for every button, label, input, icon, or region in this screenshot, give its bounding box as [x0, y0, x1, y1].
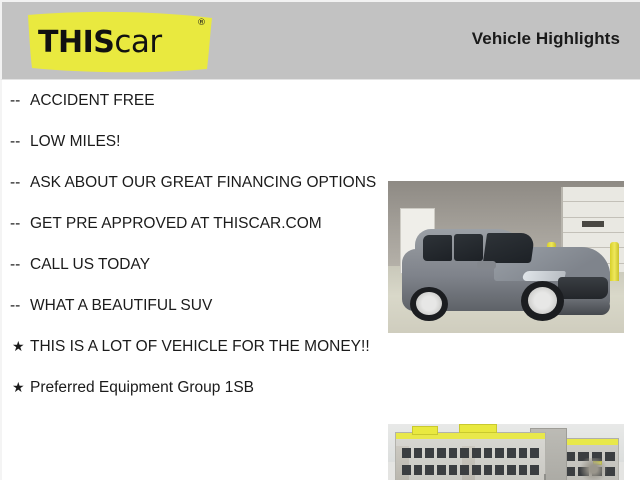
thiscar-logo[interactable]: THIScar ®	[26, 9, 216, 75]
tree	[577, 458, 610, 480]
bullet-dash: --	[10, 213, 30, 234]
yellow-bollard	[610, 242, 619, 282]
rear-window	[423, 235, 452, 261]
list-item: ★ Preferred Equipment Group 1SB	[10, 377, 382, 398]
highlight-text: GET PRE APPROVED AT THISCAR.COM	[30, 215, 322, 232]
side-window	[454, 234, 483, 261]
highlight-text: ACCIDENT FREE	[30, 92, 155, 109]
list-item: -- ACCIDENT FREE	[10, 90, 382, 111]
highlight-text: THIS IS A LOT OF VEHICLE FOR THE MONEY!!	[30, 338, 370, 355]
dealership-photo-scene	[388, 424, 624, 480]
dealership-sign	[412, 426, 438, 435]
window-row	[402, 465, 539, 475]
page-title: Vehicle Highlights	[472, 29, 620, 49]
list-item: -- ASK ABOUT OUR GREAT FINANCING OPTIONS	[10, 172, 382, 193]
front-wheel	[521, 281, 565, 321]
vehicle-photo-scene	[388, 181, 624, 333]
highlight-text: Preferred Equipment Group 1SB	[30, 379, 254, 396]
page-content: -- ACCIDENT FREE -- LOW MILES! -- ASK AB…	[0, 80, 640, 480]
highlight-text: ASK ABOUT OUR GREAT FINANCING OPTIONS	[30, 174, 376, 191]
rear-wheel	[410, 287, 447, 321]
list-item: ★ THIS IS A LOT OF VEHICLE FOR THE MONEY…	[10, 336, 382, 357]
list-item: -- CALL US TODAY	[10, 254, 382, 275]
list-item: -- LOW MILES!	[10, 131, 382, 152]
vehicle-photo[interactable]	[388, 181, 624, 333]
side-mirror	[477, 261, 496, 269]
page-header: THIScar ® Vehicle Highlights	[0, 0, 640, 80]
bullet-star-icon: ★	[12, 336, 32, 357]
dealership-sign	[459, 424, 497, 433]
bullet-dash: --	[10, 172, 30, 193]
vehicle-highlights-page: THIScar ® Vehicle Highlights -- ACCIDENT…	[0, 0, 640, 480]
bullet-dash: --	[10, 90, 30, 111]
front-grille	[558, 277, 608, 299]
building-main-block	[395, 432, 546, 480]
windshield	[483, 233, 535, 263]
bullet-star-icon: ★	[12, 377, 32, 398]
window-row	[402, 448, 539, 458]
highlight-text: WHAT A BEAUTIFUL SUV	[30, 297, 212, 314]
suv-vehicle	[402, 221, 610, 321]
light-pole	[544, 474, 546, 480]
highlights-list: -- ACCIDENT FREE -- LOW MILES! -- ASK AB…	[10, 90, 382, 398]
bullet-dash: --	[10, 131, 30, 152]
logo-text-this: THIS	[38, 25, 114, 60]
logo-wordmark: THIScar	[38, 21, 216, 63]
registered-trademark-icon: ®	[197, 18, 206, 28]
bullet-dash: --	[10, 254, 30, 275]
bullet-dash: --	[10, 295, 30, 316]
logo-text-car: car	[114, 24, 161, 60]
highlight-text: LOW MILES!	[30, 133, 120, 150]
list-item: -- WHAT A BEAUTIFUL SUV	[10, 295, 382, 316]
dealership-photo[interactable]	[388, 424, 624, 480]
highlight-text: CALL US TODAY	[30, 256, 150, 273]
list-item: -- GET PRE APPROVED AT THISCAR.COM	[10, 213, 382, 234]
